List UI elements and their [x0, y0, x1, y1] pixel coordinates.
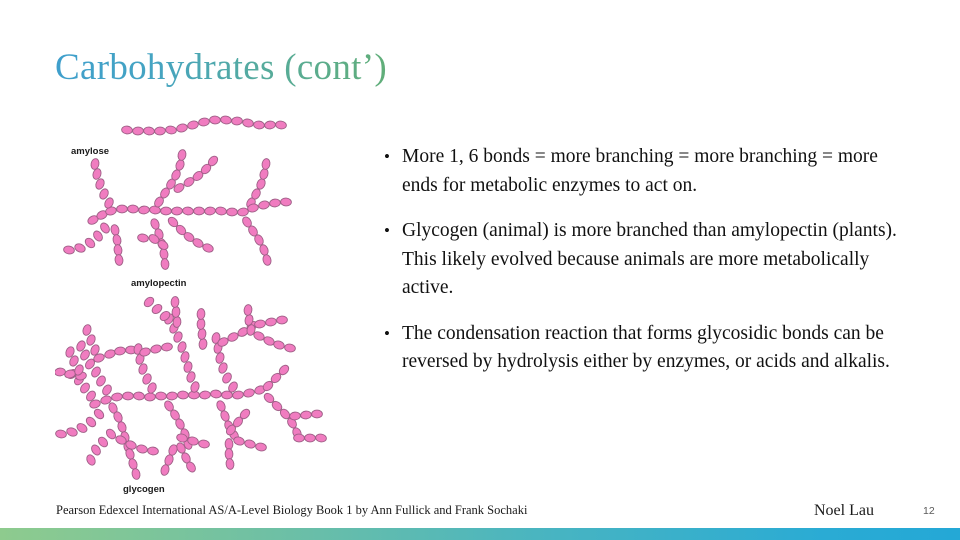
bullet-text: Glycogen (animal) is more branched than …	[402, 217, 914, 303]
bullet-list: • More 1, 6 bonds = more branching = mor…	[384, 143, 914, 394]
figure-svg: amylose	[55, 104, 365, 498]
author-name: Noel Lau	[814, 502, 874, 520]
bottom-accent-bar	[0, 528, 960, 540]
list-item: • The condensation reaction that forms g…	[384, 320, 914, 377]
bullet-marker-icon: •	[384, 217, 402, 246]
source-citation: Pearson Edexcel International AS/A-Level…	[56, 503, 527, 518]
bullet-text: More 1, 6 bonds = more branching = more …	[402, 143, 914, 200]
figure-caption-glycogen: glycogen	[123, 484, 165, 495]
figure-caption-amylopectin: amylopectin	[131, 278, 187, 289]
slide-number: 12	[923, 505, 935, 517]
bullet-text: The condensation reaction that forms gly…	[402, 320, 914, 377]
bullet-marker-icon: •	[384, 143, 402, 172]
bullet-marker-icon: •	[384, 320, 402, 349]
page-title: Carbohydrates (cont’)	[55, 46, 387, 89]
amylopectin-structure: amylopectin	[63, 149, 292, 289]
amylose-structure: amylose	[71, 115, 287, 157]
glycogen-structure: glycogen	[55, 295, 327, 495]
polysaccharide-diagram: amylose	[55, 104, 365, 498]
list-item: • Glycogen (animal) is more branched tha…	[384, 217, 914, 303]
list-item: • More 1, 6 bonds = more branching = mor…	[384, 143, 914, 200]
figure-caption-amylose: amylose	[71, 146, 109, 157]
